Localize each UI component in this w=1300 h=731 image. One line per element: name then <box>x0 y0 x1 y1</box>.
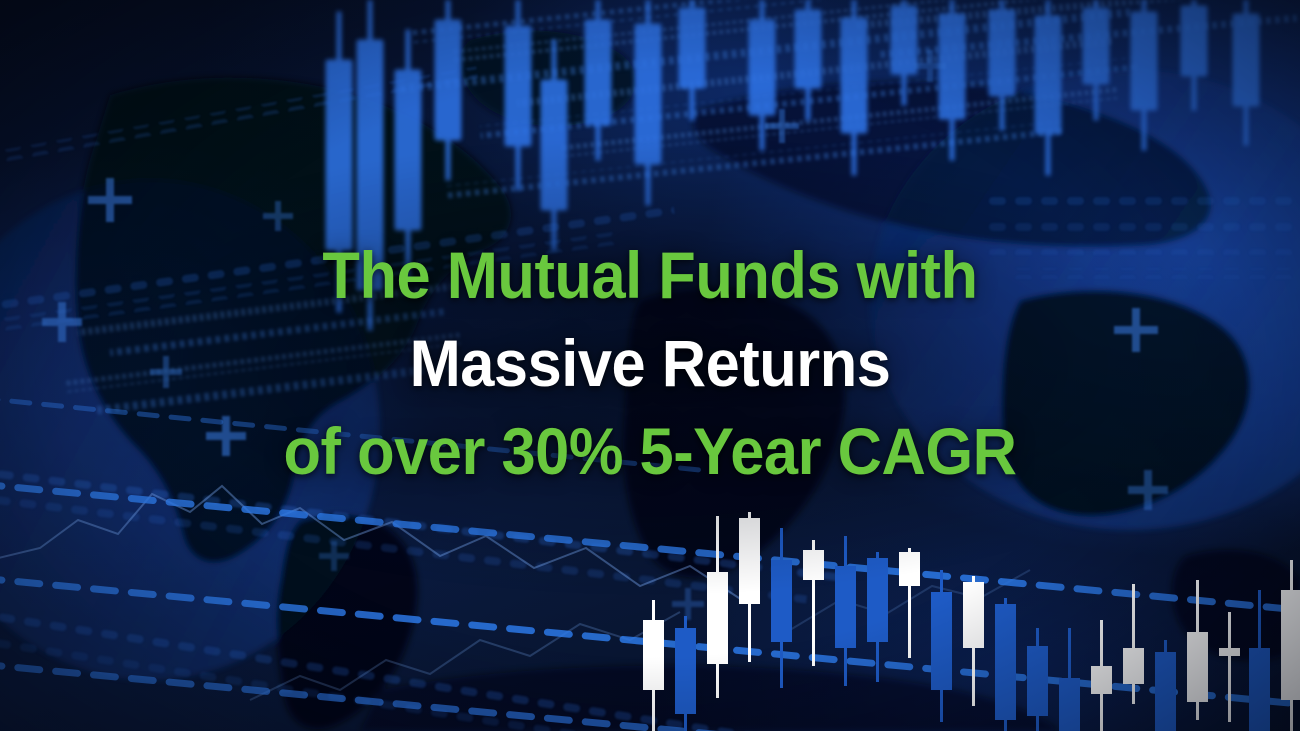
headline-block: The Mutual Funds with Massive Returns of… <box>0 231 1300 495</box>
headline-line-1: The Mutual Funds with <box>46 231 1255 319</box>
headline-line-2: Massive Returns <box>46 319 1255 407</box>
headline-line-3: of over 30% 5-Year CAGR <box>46 407 1255 495</box>
banner-card: The Mutual Funds with Massive Returns of… <box>0 0 1300 731</box>
